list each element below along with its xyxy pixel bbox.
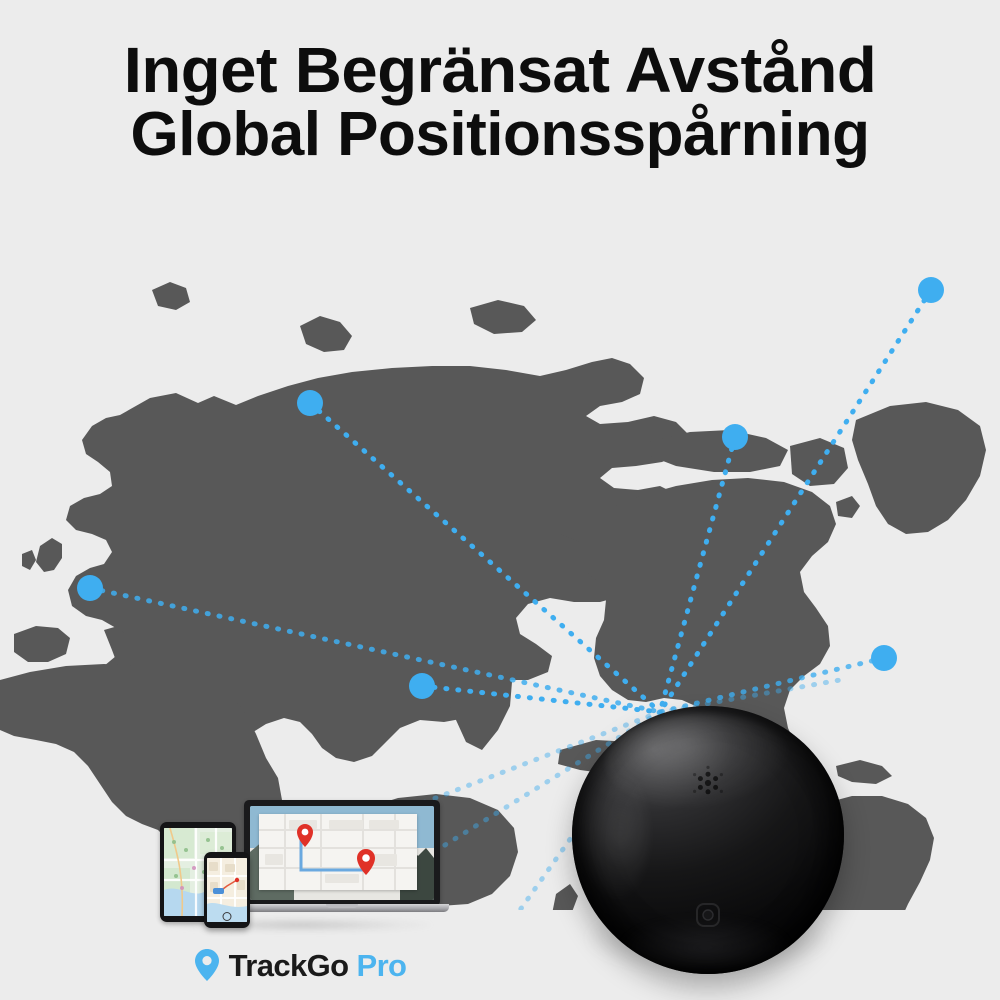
marker-north-america[interactable] — [722, 424, 748, 450]
brand-name-accent: Pro — [357, 948, 407, 983]
map-pin-icon — [194, 948, 220, 982]
phone-home-button[interactable] — [223, 912, 232, 921]
marker-australia[interactable] — [409, 673, 435, 699]
gps-tracker-device[interactable] — [572, 706, 844, 978]
land-iberia — [14, 626, 70, 662]
land-britain — [36, 538, 62, 572]
page-title: Inget Begränsat Avstånd Global Positions… — [0, 38, 1000, 167]
poster-canvas: Inget Begränsat Avstånd Global Positions… — [0, 0, 1000, 1000]
marker-greenland[interactable] — [918, 277, 944, 303]
land-svalbard — [152, 282, 190, 310]
headline-line-2: Global Positionsspårning — [0, 103, 1000, 166]
land-ireland — [22, 550, 36, 570]
power-button-icon[interactable] — [695, 902, 721, 928]
marker-africa[interactable] — [77, 575, 103, 601]
world-map — [0, 210, 1000, 910]
land-caribbean — [836, 760, 892, 784]
laptop-lid — [244, 800, 440, 906]
land-arctic-isles — [470, 300, 536, 334]
land-novaya-zemlya — [300, 316, 352, 352]
headline-line-1: Inget Begränsat Avstånd — [0, 38, 1000, 103]
tracker-highlight-left — [577, 765, 648, 904]
brand-name-primary: TrackGo — [229, 948, 349, 983]
laptop-notch — [326, 904, 358, 908]
laptop-map-svg — [259, 814, 417, 890]
marker-south-america[interactable] — [871, 645, 897, 671]
marker-asia[interactable] — [297, 390, 323, 416]
brand-wordmark: TrackGo Pro — [229, 950, 407, 981]
laptop-mockup — [244, 800, 440, 918]
tracker-body — [572, 706, 844, 974]
land-greenland — [852, 402, 986, 534]
phone-location-chip — [213, 888, 224, 894]
phone-mockup — [204, 852, 250, 928]
land-iceland — [836, 496, 860, 518]
phone-map-pin — [235, 878, 239, 882]
brand-logo: TrackGo Pro — [160, 942, 440, 988]
laptop-screen[interactable] — [250, 806, 434, 900]
multi-device-app-preview — [160, 800, 440, 930]
speaker-grille-icon — [690, 765, 726, 801]
world-map-svg — [0, 210, 1000, 910]
laptop-map-view[interactable] — [259, 814, 417, 890]
phone-body — [204, 852, 250, 928]
phone-screen[interactable] — [207, 858, 247, 922]
